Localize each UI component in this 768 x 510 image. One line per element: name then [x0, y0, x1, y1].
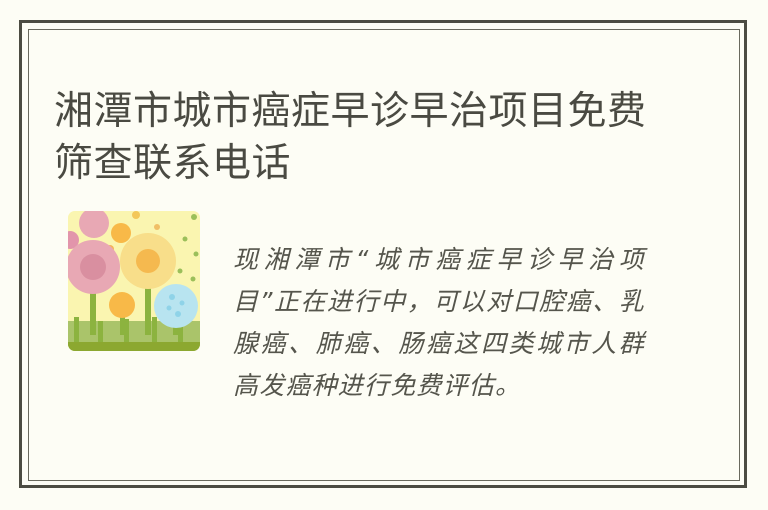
- ground-bar: [68, 342, 200, 351]
- flower-field-illustration-svg: [66, 209, 208, 355]
- article-body-text: 现湘潭市“城市癌症早诊早治项目”正在进行中，可以对口腔癌、乳腺癌、肺癌、肠癌这四…: [233, 239, 645, 407]
- flower-pink-large-center: [80, 254, 106, 280]
- flower-blue: [154, 284, 198, 328]
- deco-dot-yellow-2: [154, 224, 160, 230]
- flower-orange-small: [109, 292, 135, 318]
- flower-field-illustration: [66, 209, 208, 355]
- deco-circle-orange-top: [111, 223, 131, 243]
- illustration-scene: [66, 209, 200, 351]
- page-title: 湘潭市城市癌症早诊早治项目免费筛查联系电话: [54, 86, 674, 190]
- deco-circle-pink-top: [79, 209, 109, 238]
- flower-yellow-large-center: [136, 249, 160, 273]
- page-root: 湘潭市城市癌症早诊早治项目免费筛查联系电话: [0, 0, 768, 510]
- deco-dot-yellow: [132, 211, 140, 219]
